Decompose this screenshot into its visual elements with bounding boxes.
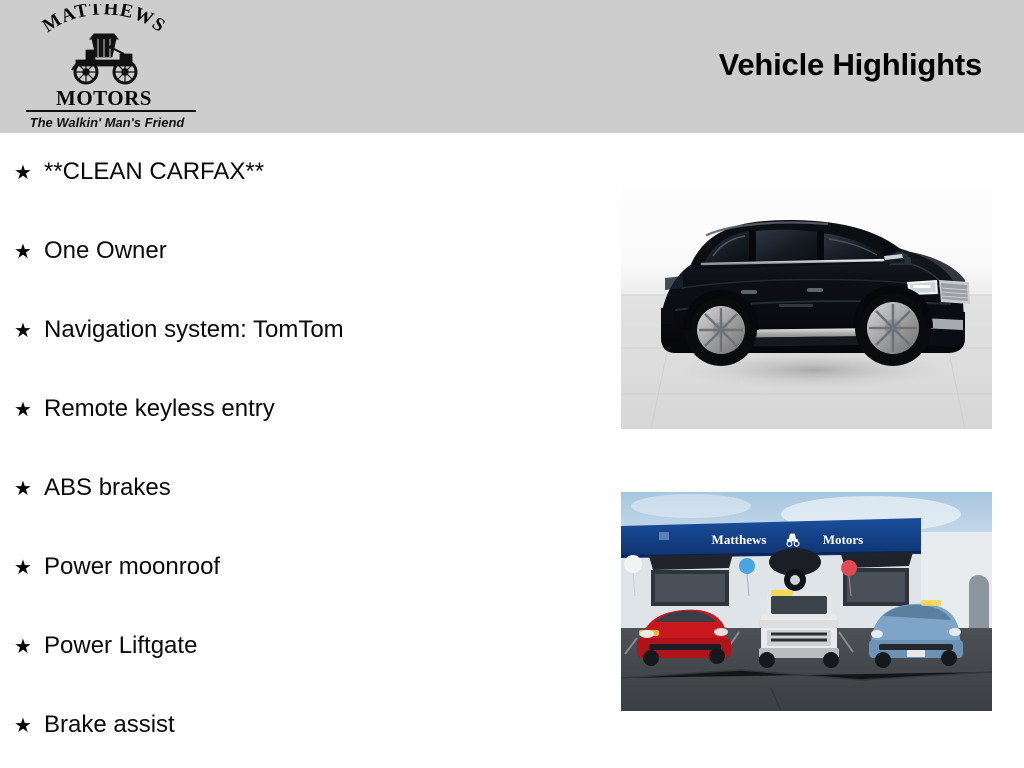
list-item: ★ **CLEAN CARFAX**	[14, 160, 264, 184]
star-bullet-icon: ★	[14, 242, 44, 262]
list-item: ★ Remote keyless entry	[14, 397, 275, 421]
list-item-label: ABS brakes	[44, 476, 171, 500]
star-bullet-icon: ★	[14, 163, 44, 183]
dealer-sign-text-right: Motors	[823, 532, 863, 547]
logo-tagline: The Walkin' Man's Friend	[14, 113, 200, 133]
star-bullet-icon: ★	[14, 637, 44, 657]
list-item: ★ One Owner	[14, 239, 167, 263]
list-item-label: One Owner	[44, 239, 167, 263]
star-bullet-icon: ★	[14, 558, 44, 578]
star-bullet-icon: ★	[14, 716, 44, 736]
list-item-label: Remote keyless entry	[44, 397, 275, 421]
page-header: MATTHEWS	[0, 0, 1024, 133]
list-item: ★ Navigation system: TomTom	[14, 318, 344, 342]
dealership-photo: Matthews Motors	[621, 492, 992, 711]
list-item: ★ ABS brakes	[14, 476, 171, 500]
white-pickup	[759, 590, 839, 668]
list-item-label: Power Liftgate	[44, 634, 197, 658]
list-item: ★ Power moonroof	[14, 555, 220, 579]
list-item-label: **CLEAN CARFAX**	[44, 160, 264, 184]
list-item-label: Power moonroof	[44, 555, 220, 579]
logo-brand-motors: MOTORS	[14, 88, 194, 109]
star-bullet-icon: ★	[14, 400, 44, 420]
page-title: Vehicle Highlights	[719, 47, 982, 83]
list-item: ★ Brake assist	[14, 713, 175, 737]
dealer-logo: MATTHEWS	[14, 4, 194, 130]
star-bullet-icon: ★	[14, 321, 44, 341]
dealer-sign-text-left: Matthews	[712, 532, 767, 547]
vehicle-photo	[621, 152, 992, 429]
list-item-label: Brake assist	[44, 713, 175, 737]
vehicle-highlights-list: ★ **CLEAN CARFAX** ★ One Owner ★ Navigat…	[0, 133, 600, 768]
list-item: ★ Power Liftgate	[14, 634, 197, 658]
star-bullet-icon: ★	[14, 479, 44, 499]
logo-divider	[26, 110, 196, 112]
antique-carriage-icon	[62, 30, 146, 88]
list-item-label: Navigation system: TomTom	[44, 318, 344, 342]
